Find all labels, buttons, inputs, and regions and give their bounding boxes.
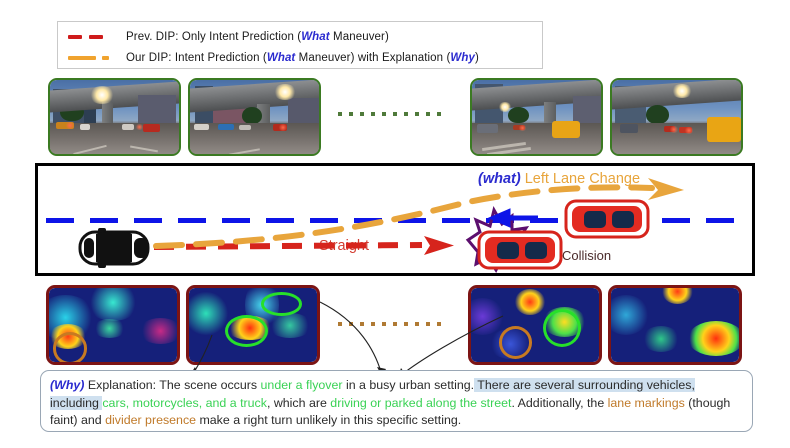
legend-our-text-post: )	[475, 52, 479, 64]
highlight-ellipse-green-2a	[225, 315, 269, 348]
legend-our-text-mid: Maneuver) with Explanation (	[295, 52, 450, 64]
explanation-seg-1: The scene occurs	[156, 378, 260, 392]
explanation-highlight-vehicles: cars, motorcycles, and a truck	[102, 396, 267, 410]
bottom-frame-2	[186, 285, 320, 365]
explanation-seg-4: . Additionally, the	[511, 396, 607, 410]
legend-our-text-pre: Our DIP: Intent Prediction (	[126, 52, 267, 64]
explanation-highlight-flyover: under a flyover	[261, 378, 343, 392]
collision-impact-arrow	[494, 212, 538, 224]
legend-prev-keyword: What	[301, 31, 330, 43]
heatmap-image-1	[49, 288, 177, 362]
red-car-icon-1	[479, 232, 561, 268]
heatmap-image-3	[471, 288, 599, 362]
top-frame-2	[188, 78, 321, 156]
legend-prev-text-pre: Prev. DIP: Only Intent Prediction (	[126, 31, 301, 43]
explanation-seg-6: make a right turn unlikely in this speci…	[196, 413, 461, 427]
intent-prediction-diagram: (what) Left Lane Change Straight Collisi…	[35, 163, 755, 276]
explanation-box: (Why) Explanation: The scene occurs unde…	[40, 370, 753, 432]
legend-row-prev-dip: Prev. DIP: Only Intent Prediction (What …	[58, 26, 542, 47]
highlight-ellipse-orange-3	[499, 326, 532, 359]
scene-image-3	[472, 80, 601, 154]
legend-our-keyword-why: Why	[450, 52, 475, 64]
explanation-highlight-lane-markings: lane markings	[608, 396, 685, 410]
red-car-icon-2	[566, 201, 648, 237]
legend-our-keyword-what: What	[267, 52, 296, 64]
legend-label-prev-dip: Prev. DIP: Only Intent Prediction (What …	[126, 31, 389, 43]
legend-swatch-orange-dashed	[68, 56, 126, 60]
diagram-vector-art	[38, 166, 752, 273]
scene-image-2	[190, 80, 319, 154]
explanation-label: Explanation:	[84, 378, 156, 392]
connector-line-2	[320, 302, 381, 372]
legend-label-our-dip: Our DIP: Intent Prediction (What Maneuve…	[126, 52, 479, 64]
scene-image-1	[50, 80, 179, 154]
bottom-frame-3	[468, 285, 602, 365]
bottom-row-separator-dots	[338, 322, 441, 326]
legend-row-our-dip: Our DIP: Intent Prediction (What Maneuve…	[58, 47, 542, 68]
figure-root: Prev. DIP: Only Intent Prediction (What …	[0, 0, 790, 448]
heatmap-image-2	[189, 288, 317, 362]
straight-arrow-head	[424, 236, 454, 255]
explanation-seg-3: , which are	[267, 396, 330, 410]
highlight-ellipse-green-3	[543, 309, 581, 347]
bottom-frame-1	[46, 285, 180, 365]
highlight-ellipse-orange-1	[53, 332, 88, 362]
top-frame-3	[470, 78, 603, 156]
top-frame-4	[610, 78, 743, 156]
bottom-frame-4	[608, 285, 742, 365]
why-keyword: (Why)	[50, 378, 84, 392]
heatmap-image-4	[611, 288, 739, 362]
legend-prev-text-post: Maneuver)	[330, 31, 389, 43]
legend-box: Prev. DIP: Only Intent Prediction (What …	[57, 21, 543, 69]
ego-vehicle-icon	[80, 228, 148, 268]
scene-image-4	[612, 80, 741, 154]
highlight-ellipse-green-2b	[261, 292, 302, 316]
top-row-separator-dots	[338, 112, 441, 116]
legend-swatch-red-dashed	[68, 35, 126, 39]
explanation-highlight-driving: driving or parked along the street	[330, 396, 511, 410]
explanation-seg-2: in a busy urban setting.	[343, 378, 475, 392]
top-frame-1	[48, 78, 181, 156]
explanation-highlight-divider: divider presence	[105, 413, 196, 427]
